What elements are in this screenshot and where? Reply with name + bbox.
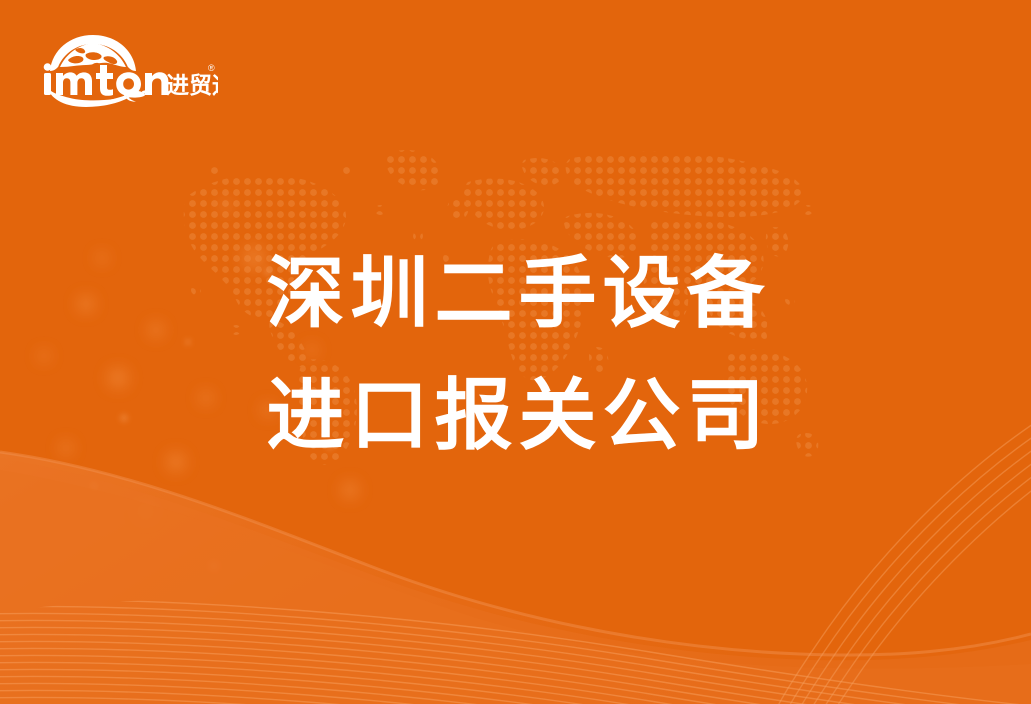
logo-trademark-symbol: ®: [208, 63, 215, 73]
brand-logo[interactable]: 进贸通 ®: [38, 27, 218, 107]
logo-chinese-name: 进贸通: [166, 72, 218, 98]
dragon-swoosh-icon: [48, 89, 150, 107]
globe-arc-icon: [50, 35, 136, 71]
logo-wordmark: [44, 63, 169, 96]
brand-logo-svg: 进贸通 ®: [38, 27, 218, 107]
promo-banner: 进贸通 ® 深圳二手设备 进口报关公司: [0, 0, 1031, 704]
